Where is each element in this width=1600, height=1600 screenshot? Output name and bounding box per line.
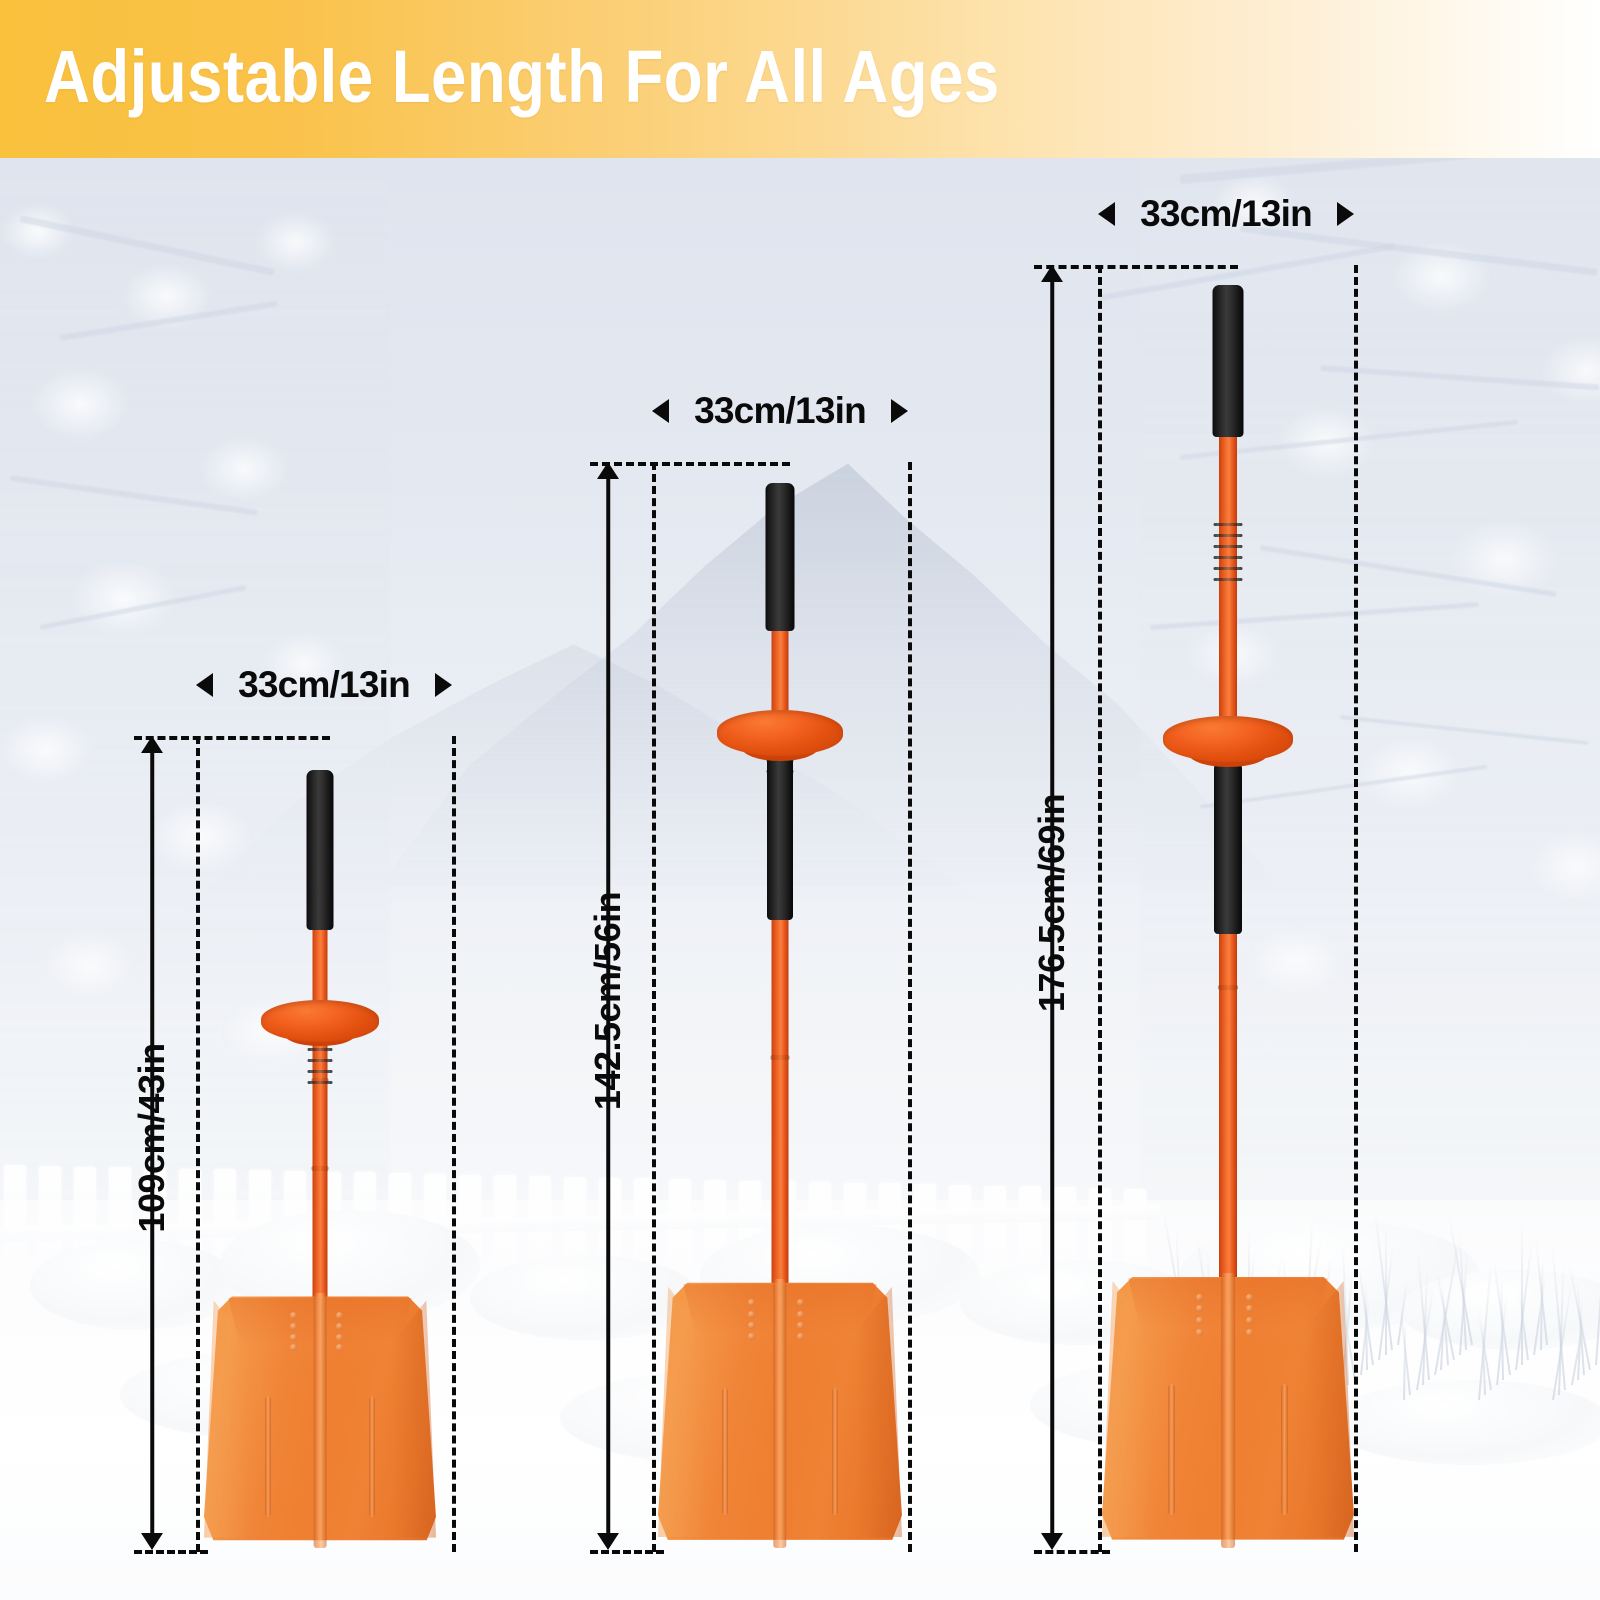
blade-center-spine xyxy=(1221,1273,1235,1548)
width-dimension: 33cm/13in xyxy=(652,390,908,432)
dimension-guide-bottom xyxy=(134,1550,208,1554)
blade-rivet xyxy=(1196,1305,1203,1312)
width-arrow-right xyxy=(891,399,908,423)
dimension-guide-bottom xyxy=(590,1550,664,1554)
blade-rivet xyxy=(1196,1294,1203,1301)
width-dimension: 33cm/13in xyxy=(196,664,452,706)
blade-rivet xyxy=(1246,1329,1253,1336)
blade-rivet xyxy=(1246,1317,1253,1324)
width-arrow-left xyxy=(196,673,213,697)
blade-rivet xyxy=(1196,1317,1203,1324)
height-dimension-label: 109cm/43in xyxy=(131,938,173,1338)
shovel-top-grip xyxy=(1213,285,1244,437)
width-arrow-left xyxy=(1098,202,1115,226)
dimension-guide-vertical xyxy=(908,462,912,1552)
infographic-stage: Adjustable Length For All Ages 109cm/43i… xyxy=(0,0,1600,1600)
width-dimension: 33cm/13in xyxy=(1098,193,1354,235)
width-arrow-right xyxy=(1337,202,1354,226)
width-arrow-right xyxy=(435,673,452,697)
dimension-guide-vertical xyxy=(196,736,200,1552)
height-dimension-label: 142.5cm/56in xyxy=(587,801,629,1201)
dimension-guide-vertical xyxy=(652,462,656,1552)
blade-groove xyxy=(1168,1384,1175,1515)
dimension-guide-vertical xyxy=(1354,265,1358,1552)
width-dimension-label: 33cm/13in xyxy=(691,390,869,432)
width-arrow-left xyxy=(652,399,669,423)
snow-basket-disc xyxy=(1163,716,1293,762)
shovel-lower-foam-grip xyxy=(1214,764,1242,934)
page-title: Adjustable Length For All Ages xyxy=(44,34,1000,119)
shovel-blade xyxy=(1102,1270,1354,1548)
width-dimension-label: 33cm/13in xyxy=(1137,193,1315,235)
blade-right-bevel xyxy=(1306,1281,1354,1537)
header-banner: Adjustable Length For All Ages xyxy=(0,0,1600,158)
dimension-guide-bottom xyxy=(1034,1550,1110,1554)
shovel-tall xyxy=(0,0,1600,1600)
blade-left-bevel xyxy=(1102,1281,1150,1537)
shaft-telescope-joint xyxy=(1218,985,1238,990)
blade-rivet xyxy=(1246,1294,1253,1301)
blade-rivet xyxy=(1196,1329,1203,1336)
height-dimension-label: 176.5cm/69in xyxy=(1031,703,1073,1103)
dimension-guide-vertical xyxy=(1098,265,1102,1552)
blade-groove xyxy=(1281,1384,1288,1515)
width-dimension-label: 33cm/13in xyxy=(235,664,413,706)
dimension-guide-vertical xyxy=(452,736,456,1552)
